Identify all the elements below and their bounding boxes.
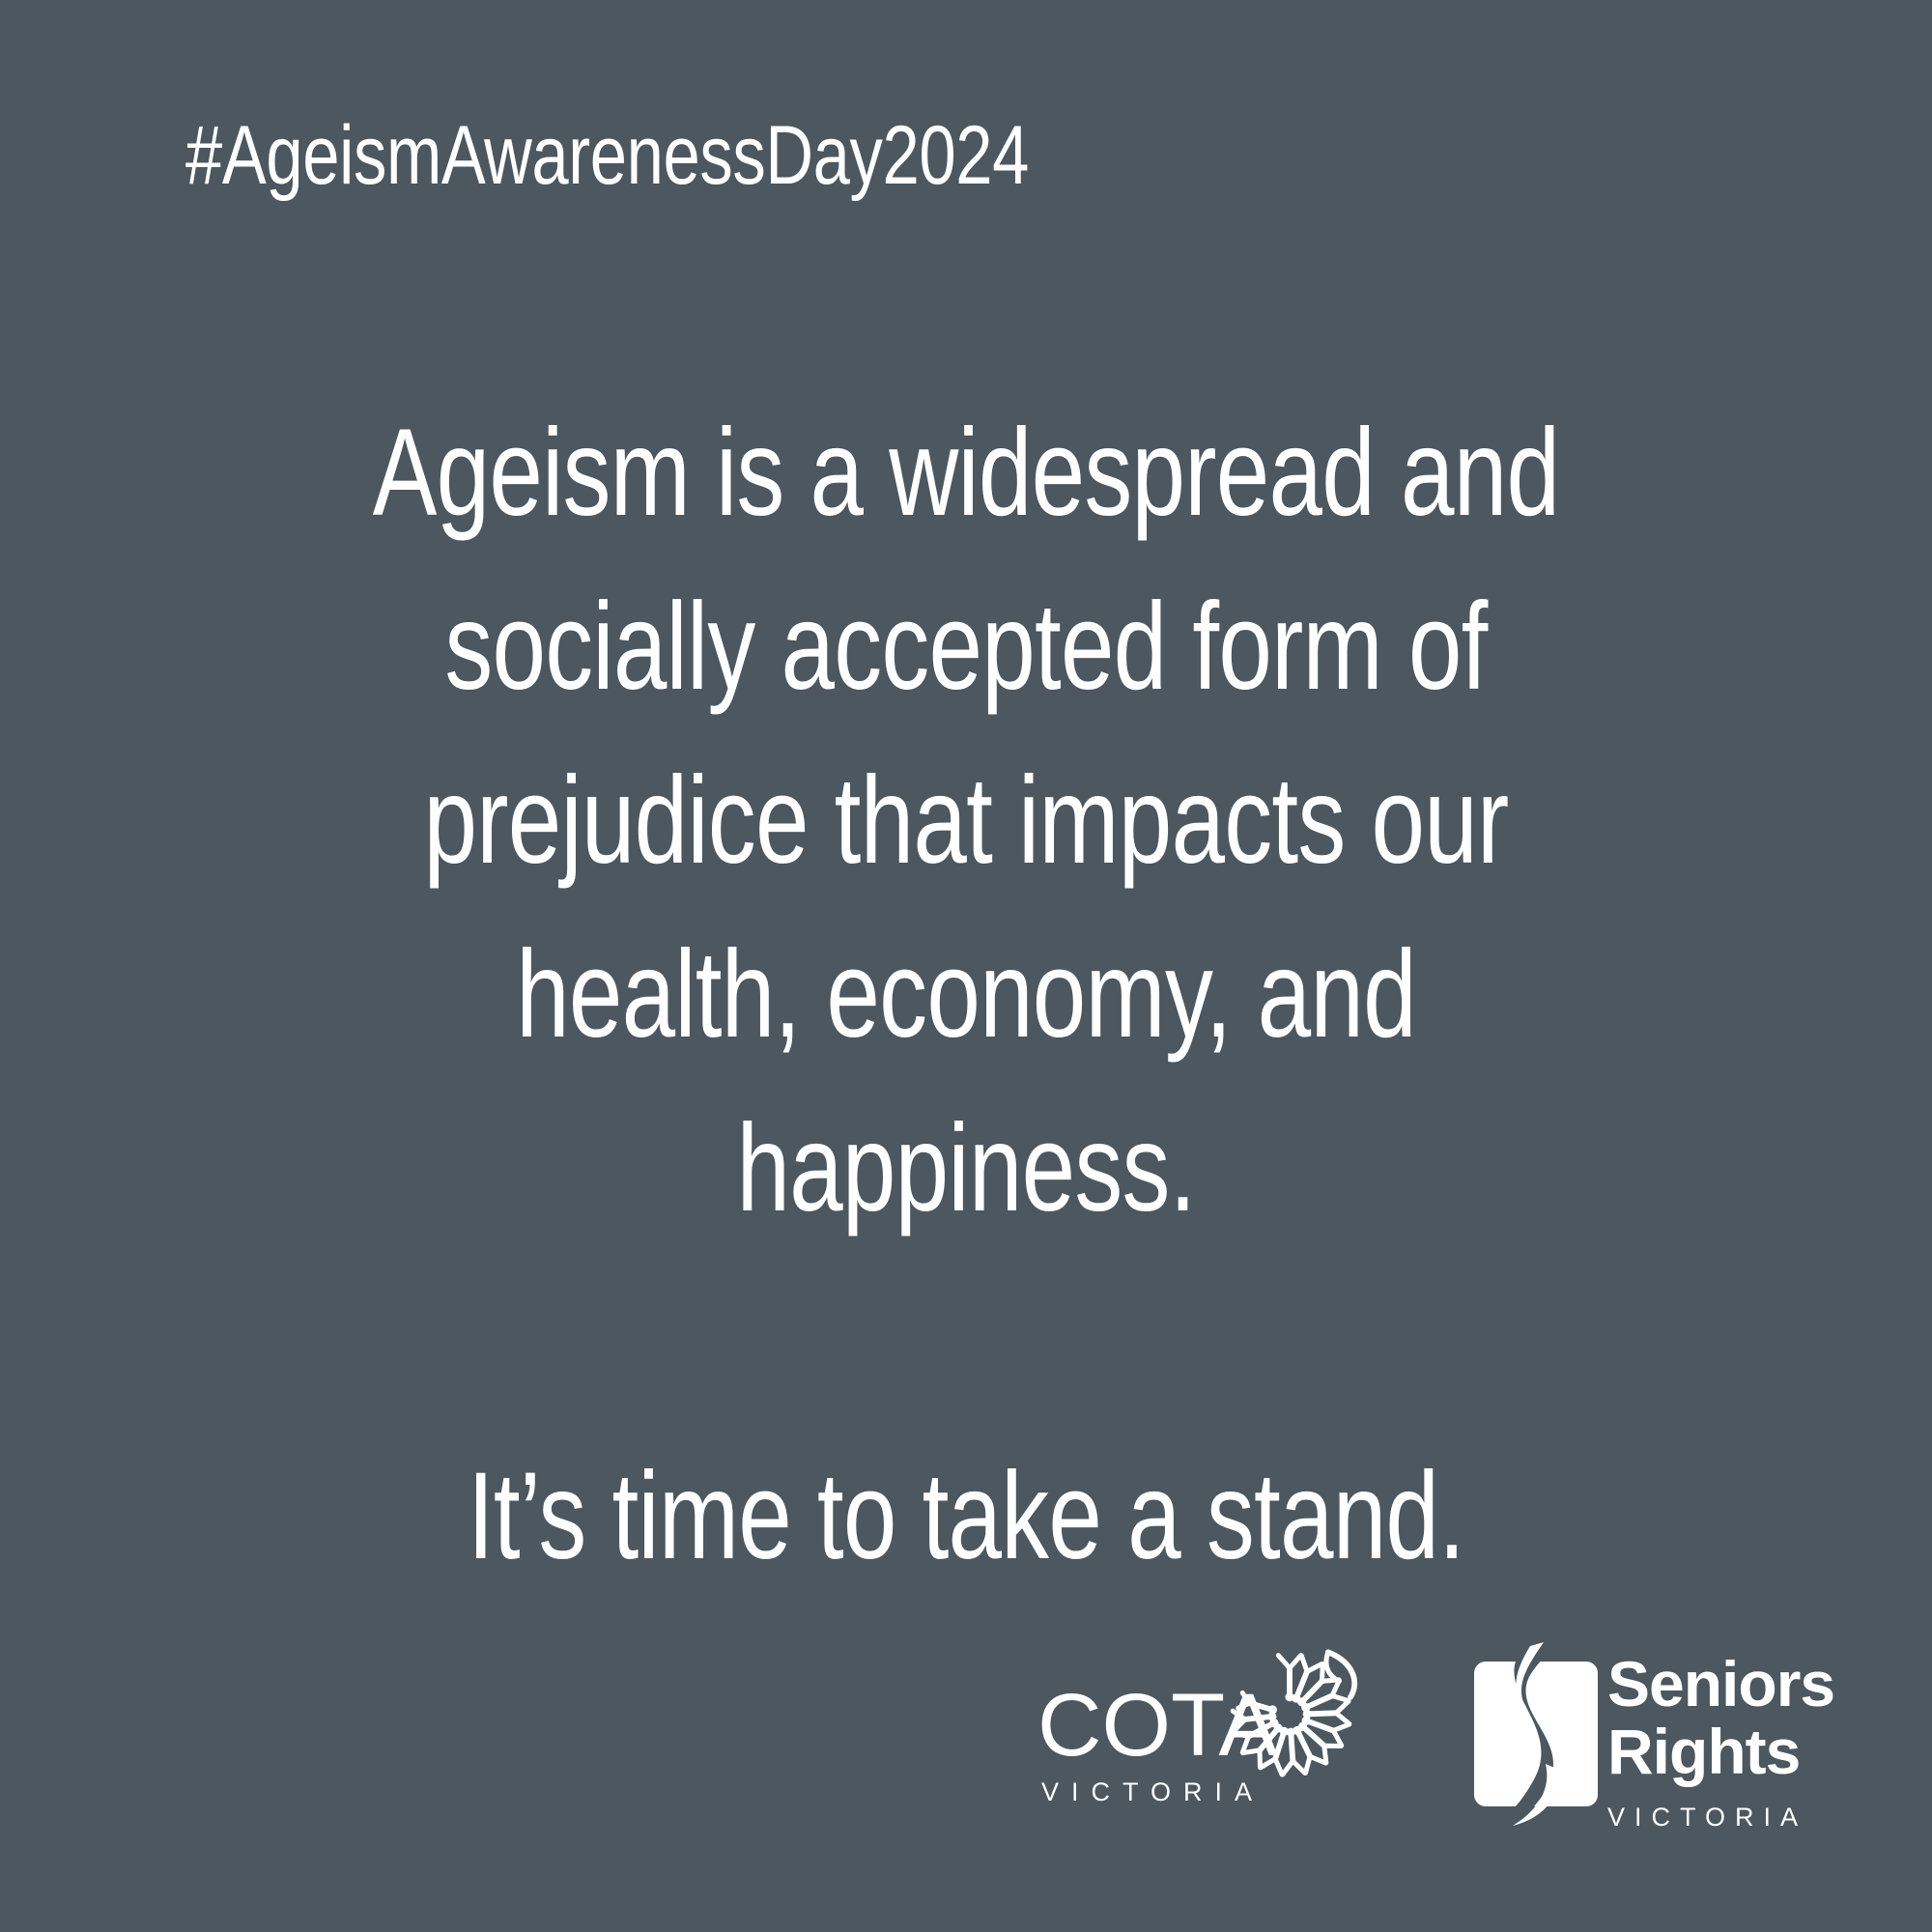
srv-subtitle: VICTORIA bbox=[1607, 1804, 1878, 1831]
message-paragraph-gap bbox=[0, 1256, 1932, 1439]
logo-cota-victoria: COTA VICTORIA bbox=[1024, 1633, 1381, 1840]
message-tagline: It’s time to take a stand. bbox=[213, 1439, 1719, 1594]
srv-name-line-1: Seniors bbox=[1607, 1652, 1878, 1716]
message-line-3: prejudice that impacts our bbox=[213, 734, 1719, 908]
social-graphic-canvas: #AgeismAwarenessDay2024 Ageism is a wide… bbox=[0, 0, 1932, 1932]
srv-name-line-2: Rights bbox=[1607, 1719, 1878, 1783]
message-line-4: health, economy, and bbox=[213, 908, 1719, 1082]
message-block: Ageism is a widespread and socially acce… bbox=[0, 386, 1932, 1594]
srv-wordmark: Seniors Rights VICTORIA bbox=[1607, 1652, 1878, 1831]
logo-seniors-rights-victoria: Seniors Rights VICTORIA bbox=[1470, 1634, 1876, 1842]
message-line-1: Ageism is a widespread and bbox=[213, 386, 1719, 560]
message-line-2: socially accepted form of bbox=[213, 560, 1719, 734]
srv-s-curve-icon bbox=[1470, 1634, 1605, 1833]
campaign-hashtag: #AgeismAwarenessDay2024 bbox=[185, 114, 1029, 197]
message-line-5: happiness. bbox=[213, 1082, 1719, 1256]
logo-strip: COTA VICTORIA bbox=[1024, 1633, 1874, 1855]
cota-spiral-icon bbox=[1209, 1634, 1370, 1795]
